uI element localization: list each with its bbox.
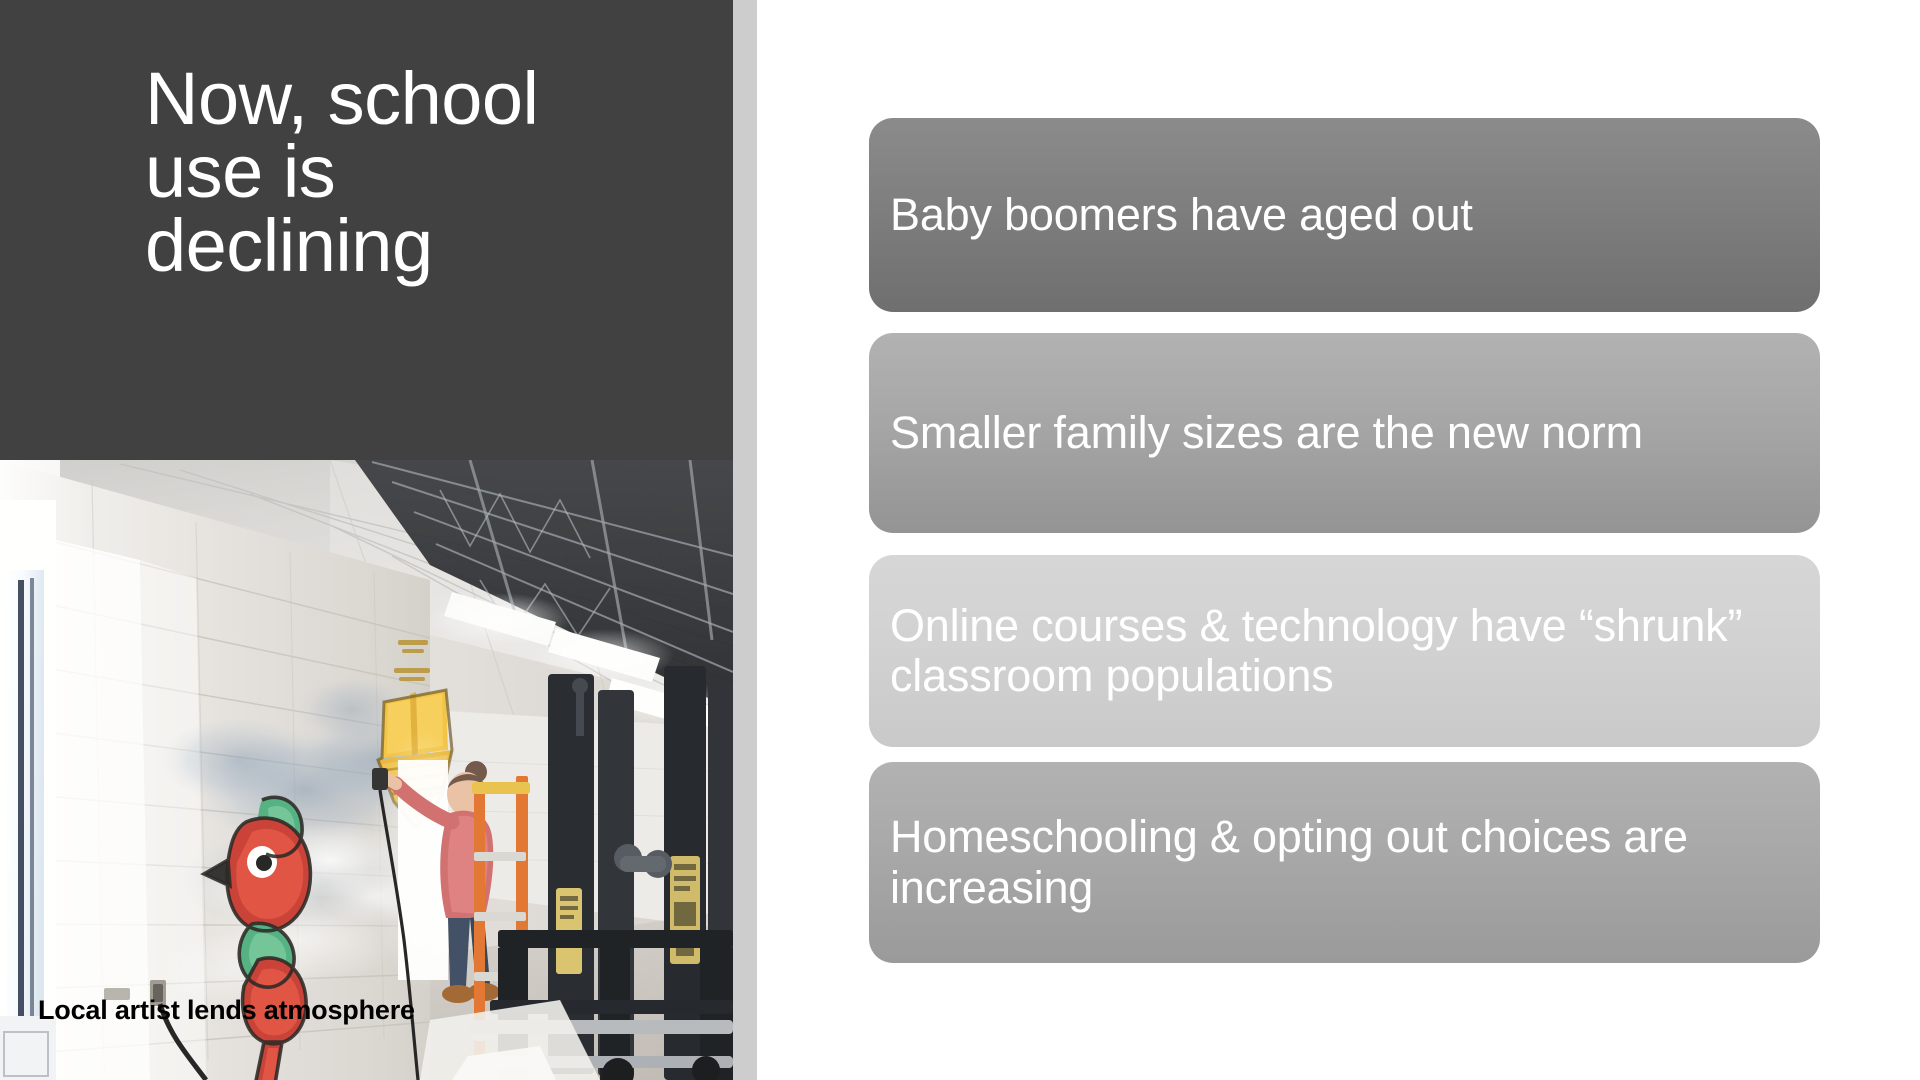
content-bar-1[interactable]: Baby boomers have aged out	[869, 118, 1820, 312]
slide-title: Now, school use is declining	[145, 62, 615, 282]
content-bar-4-label: Homeschooling & opting out choices are i…	[869, 812, 1820, 913]
title-panel: Now, school use is declining	[0, 0, 733, 460]
mural-photo-illustration	[0, 460, 733, 1080]
content-bar-2[interactable]: Smaller family sizes are the new norm	[869, 333, 1820, 533]
slide-canvas: Now, school use is declining	[0, 0, 1920, 1080]
content-bar-4[interactable]: Homeschooling & opting out choices are i…	[869, 762, 1820, 963]
content-bar-3-label: Online courses & technology have “shrunk…	[869, 601, 1820, 702]
content-bar-3[interactable]: Online courses & technology have “shrunk…	[869, 555, 1820, 747]
left-column: Now, school use is declining	[0, 0, 733, 1080]
content-bar-1-label: Baby boomers have aged out	[869, 190, 1820, 240]
content-bars-group: Baby boomers have aged out Smaller famil…	[869, 0, 1820, 1080]
mural-photo	[0, 460, 733, 1080]
content-bar-2-label: Smaller family sizes are the new norm	[869, 408, 1820, 458]
photo-caption: Local artist lends atmosphere	[38, 995, 415, 1026]
column-divider-strip	[733, 0, 757, 1080]
